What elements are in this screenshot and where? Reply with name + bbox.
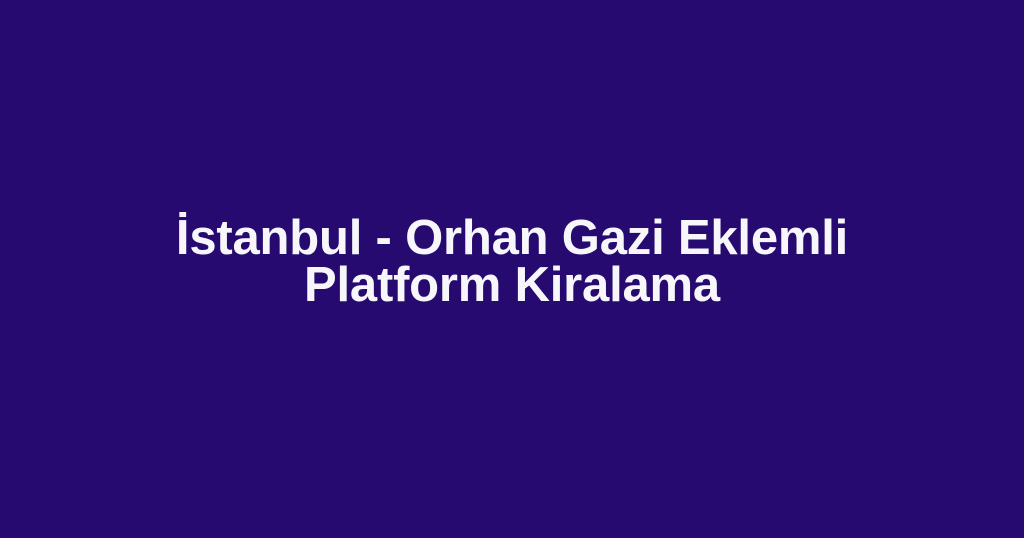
banner: İstanbul - Orhan Gazi Eklemli Platform K…	[0, 0, 1024, 538]
title-block: İstanbul - Orhan Gazi Eklemli Platform K…	[0, 215, 1024, 309]
page-title: İstanbul - Orhan Gazi Eklemli Platform K…	[40, 215, 984, 309]
